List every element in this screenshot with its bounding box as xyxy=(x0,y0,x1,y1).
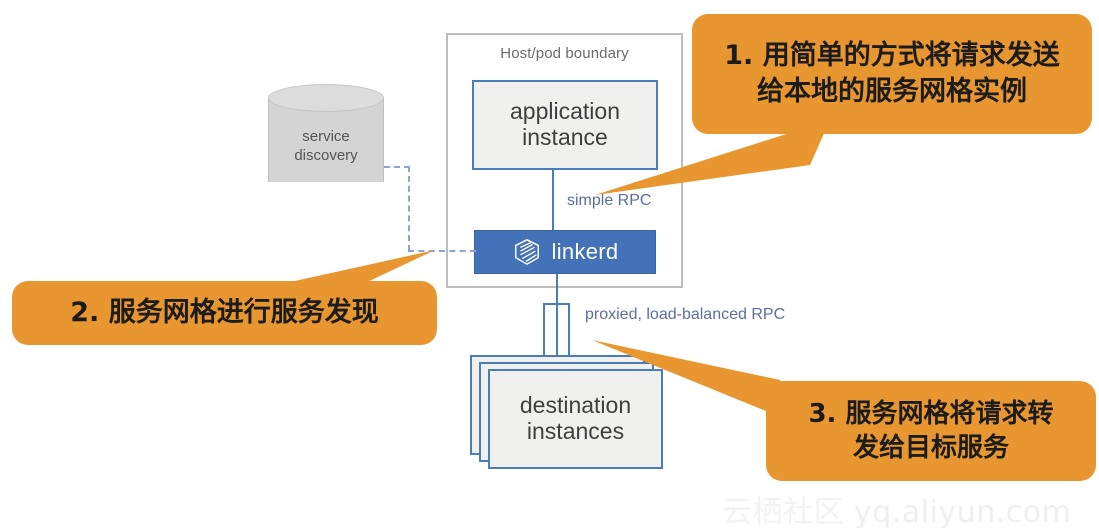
callout-1-text1: 用简单的方式将请求发送 xyxy=(763,40,1060,71)
cylinder-top xyxy=(268,84,384,112)
host-pod-boundary-label: Host/pod boundary xyxy=(446,45,683,62)
callout-3: 3. 服务网格将请求转 发给目标服务 xyxy=(766,381,1096,481)
diagram-canvas: Host/pod boundary application instance s… xyxy=(0,0,1099,528)
callout-3-line2: 发给目标服务 xyxy=(808,431,1053,465)
callout-1-line2: 给本地的服务网格实例 xyxy=(724,74,1059,110)
linkerd-label: linkerd xyxy=(552,239,619,265)
linkerd-node: linkerd xyxy=(474,230,656,274)
linkerd-logo-icon xyxy=(512,237,542,267)
watermark: 云栖社区 yq.aliyun.com xyxy=(722,487,1071,528)
discovery-edge-segment-1 xyxy=(384,166,410,168)
callout-1: 1. 用简单的方式将请求发送 给本地的服务网格实例 xyxy=(692,14,1092,134)
discovery-edge-segment-2 xyxy=(408,166,410,251)
callout-3-text1: 服务网格将请求转 xyxy=(846,399,1054,429)
callout-2-text1: 服务网格进行服务发现 xyxy=(109,297,379,328)
service-discovery-label: service discovery xyxy=(268,128,384,166)
callout-1-number: 1. xyxy=(724,40,753,71)
service-discovery-label-line1: service xyxy=(268,128,384,147)
watermark-cn: 云栖社区 xyxy=(722,495,844,528)
callout-2-number: 2. xyxy=(70,297,99,328)
watermark-url: yq.aliyun.com xyxy=(854,495,1071,528)
callout-1-line1: 1. 用简单的方式将请求发送 xyxy=(724,38,1059,74)
callout-1-tail xyxy=(560,120,840,230)
service-discovery-label-line2: discovery xyxy=(268,147,384,166)
callout-3-line1: 3. 服务网格将请求转 xyxy=(808,397,1053,431)
edge-app-to-linkerd xyxy=(552,170,554,232)
callout-2: 2. 服务网格进行服务发现 xyxy=(12,281,437,345)
service-discovery-datastore: service discovery xyxy=(268,84,384,196)
callout-3-number: 3. xyxy=(808,399,836,429)
proxied-rpc-label: proxied, load-balanced RPC xyxy=(585,306,785,324)
